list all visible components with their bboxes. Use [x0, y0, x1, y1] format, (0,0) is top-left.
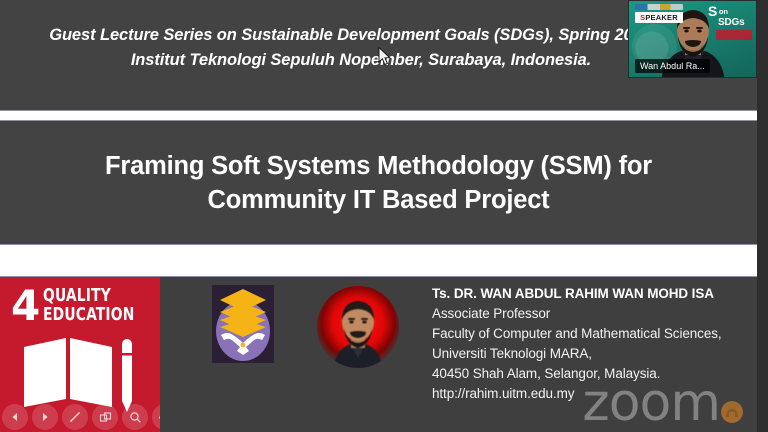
sdg-logo-sdgs: SDGs — [718, 18, 752, 28]
sdg-logo-colorbar — [716, 30, 752, 40]
sdg-goal-number: 4 — [11, 285, 40, 327]
sdg-goal-label-line-2: EDUCATION — [43, 306, 134, 325]
more-options-button[interactable] — [152, 404, 160, 430]
slide-title-line-1: Framing Soft Systems Methodology (SSM) f… — [49, 149, 709, 183]
portrait-illustration — [317, 286, 399, 368]
sdg-goal-4-tile: 4 QUALITY EDUCATION — [0, 277, 160, 432]
banner-line-2: Institut Teknologi Sepuluh Nopember, Sur… — [0, 48, 700, 73]
speaker-info-block: Ts. DR. WAN ABDUL RAHIM WAN MOHD ISA Ass… — [432, 284, 752, 404]
badge-color-strip — [635, 4, 683, 10]
speaker-badge-text: PEAKER — [645, 12, 677, 23]
speaker-name: Ts. DR. WAN ABDUL RAHIM WAN MOHD ISA — [432, 284, 752, 304]
open-book-and-pencil-icon — [18, 333, 143, 413]
slide-title-block: Framing Soft Systems Methodology (SSM) f… — [0, 121, 757, 244]
speaker-portrait — [317, 286, 399, 368]
speaker-address: 40450 Shah Alam, Selangor, Malaysia. — [432, 364, 752, 384]
uitm-logo — [212, 285, 274, 363]
play-slide-button[interactable] — [32, 404, 58, 430]
previous-slide-button[interactable] — [2, 404, 28, 430]
thumbnail-sdg-logo: S on SDGs — [708, 5, 752, 40]
speaker-title: Associate Professor — [432, 304, 752, 324]
slide-title: Framing Soft Systems Methodology (SSM) f… — [49, 149, 709, 217]
speaker-university: Universiti Teknologi MARA, — [432, 344, 752, 364]
slide-divider-middle — [0, 244, 757, 277]
speaker-badge-label: SPEAKER — [635, 12, 683, 23]
slide-divider-top — [0, 110, 757, 121]
sdg-goal-label-line-1: QUALITY — [43, 287, 134, 306]
banner-title: Guest Lecture Series on Sustainable Deve… — [0, 23, 700, 73]
zoom-watermark-badge-icon — [721, 401, 743, 423]
participant-video-thumbnail[interactable]: SPEAKER S on SDGs Wan Abdul Ra... — [628, 0, 757, 78]
shared-screen-stage: Guest Lecture Series on Sustainable Deve… — [0, 0, 768, 432]
sdg-logo-s: S — [708, 5, 717, 18]
sdg-logo-on: on — [719, 8, 728, 16]
annotation-toolbar[interactable] — [2, 404, 160, 430]
stamp-tool-button[interactable] — [92, 404, 118, 430]
participant-name-label: Wan Abdul Ra... — [635, 59, 710, 73]
speaker-website: http://rahim.uitm.edu.my — [432, 384, 752, 404]
thumbnail-event-badge: SPEAKER — [635, 4, 683, 23]
speaker-faculty: Faculty of Computer and Mathematical Sci… — [432, 324, 752, 344]
slide-title-line-2: Community IT Based Project — [49, 183, 709, 217]
sdg-goal-label: QUALITY EDUCATION — [43, 287, 134, 325]
banner-line-1: Guest Lecture Series on Sustainable Deve… — [0, 23, 700, 48]
pen-tool-button[interactable] — [62, 404, 88, 430]
slide-footer-block: 4 QUALITY EDUCATION — [0, 277, 757, 432]
stage-right-edge — [757, 0, 768, 432]
magnifier-button[interactable] — [122, 404, 148, 430]
